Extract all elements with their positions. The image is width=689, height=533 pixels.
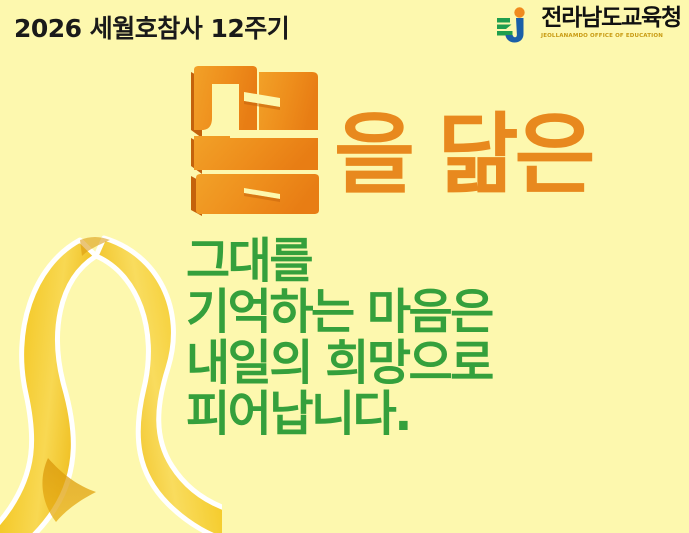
memorial-poster: 2026 세월호참사 12주기 전라남도교육청 JEOLLANAMDO OFFI… <box>0 0 689 533</box>
page-title: 2026 세월호참사 12주기 <box>14 9 289 45</box>
message-line: 내일의 희망으로 <box>186 338 681 389</box>
message-line: 피어납니다. <box>186 389 681 440</box>
logo-wordmark: 전라남도교육청 JEOLLANAMDO OFFICE OF EDUCATION <box>541 4 681 39</box>
logo-name-english: JEOLLANAMDO OFFICE OF EDUCATION <box>541 33 684 39</box>
header-bar: 2026 세월호참사 12주기 전라남도교육청 JEOLLANAMDO OFFI… <box>0 0 689 52</box>
message-line: 그대를 <box>186 236 681 287</box>
headline-tail-text: 을 닮은 <box>334 111 592 199</box>
jeollanamdo-office-of-education-logo: 전라남도교육청 JEOLLANAMDO OFFICE OF EDUCATION <box>496 4 681 50</box>
message-line: 기억하는 마음은 <box>186 287 681 338</box>
logo-name-korean: 전라남도교육청 <box>541 7 681 30</box>
headline-big-char-bom <box>186 58 334 216</box>
logo-emblem-icon <box>496 6 536 44</box>
headline-orange: 을 닮은 <box>186 58 656 218</box>
message-block: 그대를 기억하는 마음은 내일의 희망으로 피어납니다. <box>186 236 681 440</box>
